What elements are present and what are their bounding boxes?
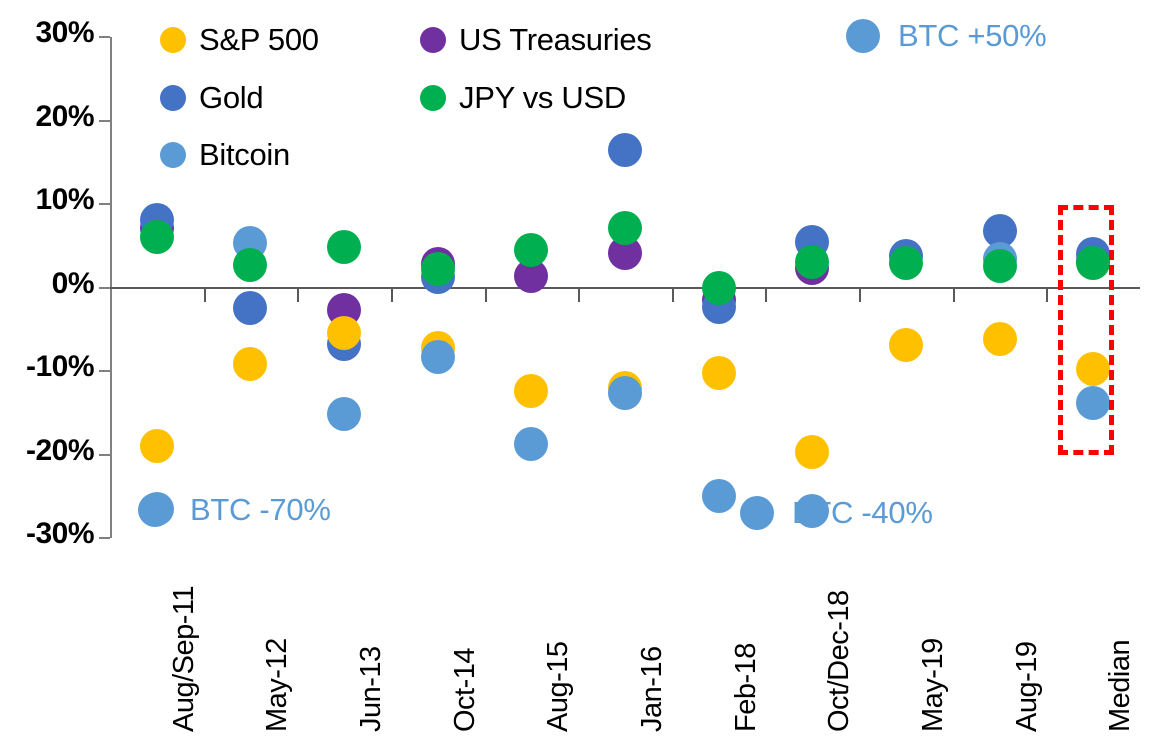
data-point (514, 233, 548, 267)
x-axis-tick (297, 289, 299, 302)
y-axis-tick-label: 30% (35, 16, 94, 50)
legend-label: Gold (199, 80, 263, 116)
annotation-marker-icon (846, 19, 880, 53)
x-axis-category-label: Oct-14 (449, 648, 482, 732)
x-axis-category-label: Feb-18 (730, 643, 763, 732)
y-axis-tick (99, 370, 110, 372)
annotation-label: BTC -40% (792, 495, 933, 531)
annotation-label: BTC -70% (190, 492, 331, 528)
y-axis-tick (99, 203, 110, 205)
annotation-marker-icon (138, 493, 172, 527)
legend-label: JPY vs USD (459, 80, 626, 116)
legend-marker-icon (160, 85, 186, 111)
legend-item[interactable]: Gold (160, 80, 263, 116)
legend-label: S&P 500 (199, 22, 319, 58)
y-axis-tick-label: -30% (26, 517, 94, 551)
x-axis-category-label: May-19 (917, 638, 950, 732)
y-axis-tick-label: -10% (26, 350, 94, 384)
data-point (233, 248, 267, 282)
x-axis-category-label: Jan-16 (636, 646, 669, 732)
y-axis-tick-label: 0% (52, 267, 94, 301)
data-point (889, 246, 923, 280)
data-point (1076, 352, 1110, 386)
data-point (983, 322, 1017, 356)
data-point (1076, 246, 1110, 280)
data-point (795, 245, 829, 279)
data-point (1076, 386, 1110, 420)
data-point (514, 374, 548, 408)
y-axis-tick (99, 120, 110, 122)
y-axis-tick (99, 36, 110, 38)
x-axis-tick (859, 289, 861, 302)
data-point (608, 211, 642, 245)
x-axis-category-label: Median (1104, 640, 1137, 732)
legend-marker-icon (420, 85, 446, 111)
data-point (233, 347, 267, 381)
x-axis-category-label: Oct/Dec-18 (823, 590, 856, 732)
y-axis-tick (99, 537, 110, 539)
x-axis-category-label: Aug-19 (1011, 641, 1044, 732)
x-axis-tick (765, 289, 767, 302)
data-point (608, 133, 642, 167)
x-axis-tick (204, 289, 206, 302)
data-point (795, 435, 829, 469)
data-point (421, 252, 455, 286)
legend-item[interactable]: JPY vs USD (420, 80, 626, 116)
y-axis-tick-label: -20% (26, 434, 94, 468)
x-axis-tick (485, 289, 487, 302)
legend-marker-icon (160, 27, 186, 53)
y-axis-tick (99, 287, 110, 289)
data-point (327, 230, 361, 264)
annotation-marker-icon (740, 496, 774, 530)
y-axis-tick-label: 20% (35, 100, 94, 134)
data-point (421, 340, 455, 374)
annotation: BTC -70% (138, 492, 331, 528)
legend-item[interactable]: Bitcoin (160, 137, 290, 173)
x-axis-category-label: Aug/Sep-11 (168, 586, 201, 732)
y-axis-tick (99, 454, 110, 456)
annotation: BTC +50% (846, 18, 1046, 54)
x-axis-tick (672, 289, 674, 302)
data-point (514, 427, 548, 461)
chart-container: 30%20%10%0%-10%-20%-30% Aug/Sep-11May-12… (0, 0, 1151, 739)
annotation: BTC -40% (740, 495, 933, 531)
data-point (608, 376, 642, 410)
legend-item[interactable]: S&P 500 (160, 22, 319, 58)
data-point (702, 271, 736, 305)
x-axis-tick (1046, 289, 1048, 302)
data-point (140, 429, 174, 463)
data-point (702, 356, 736, 390)
data-point (327, 397, 361, 431)
annotation-label: BTC +50% (898, 18, 1046, 54)
x-axis-tick (953, 289, 955, 302)
legend-marker-icon (160, 142, 186, 168)
legend-item[interactable]: US Treasuries (420, 22, 652, 58)
data-point (702, 479, 736, 513)
data-point (140, 220, 174, 254)
data-point (889, 328, 923, 362)
y-axis-tick-label: 10% (35, 183, 94, 217)
data-point (233, 291, 267, 325)
x-axis-tick (578, 289, 580, 302)
legend-marker-icon (420, 27, 446, 53)
legend-label: Bitcoin (199, 137, 290, 173)
x-axis-category-label: Jun-13 (355, 646, 388, 732)
x-axis-category-label: Aug-15 (542, 641, 575, 732)
data-point (983, 249, 1017, 283)
x-axis-category-label: May-12 (261, 638, 294, 732)
legend-label: US Treasuries (459, 22, 652, 58)
zero-baseline (110, 287, 1140, 289)
x-axis-tick (391, 289, 393, 302)
